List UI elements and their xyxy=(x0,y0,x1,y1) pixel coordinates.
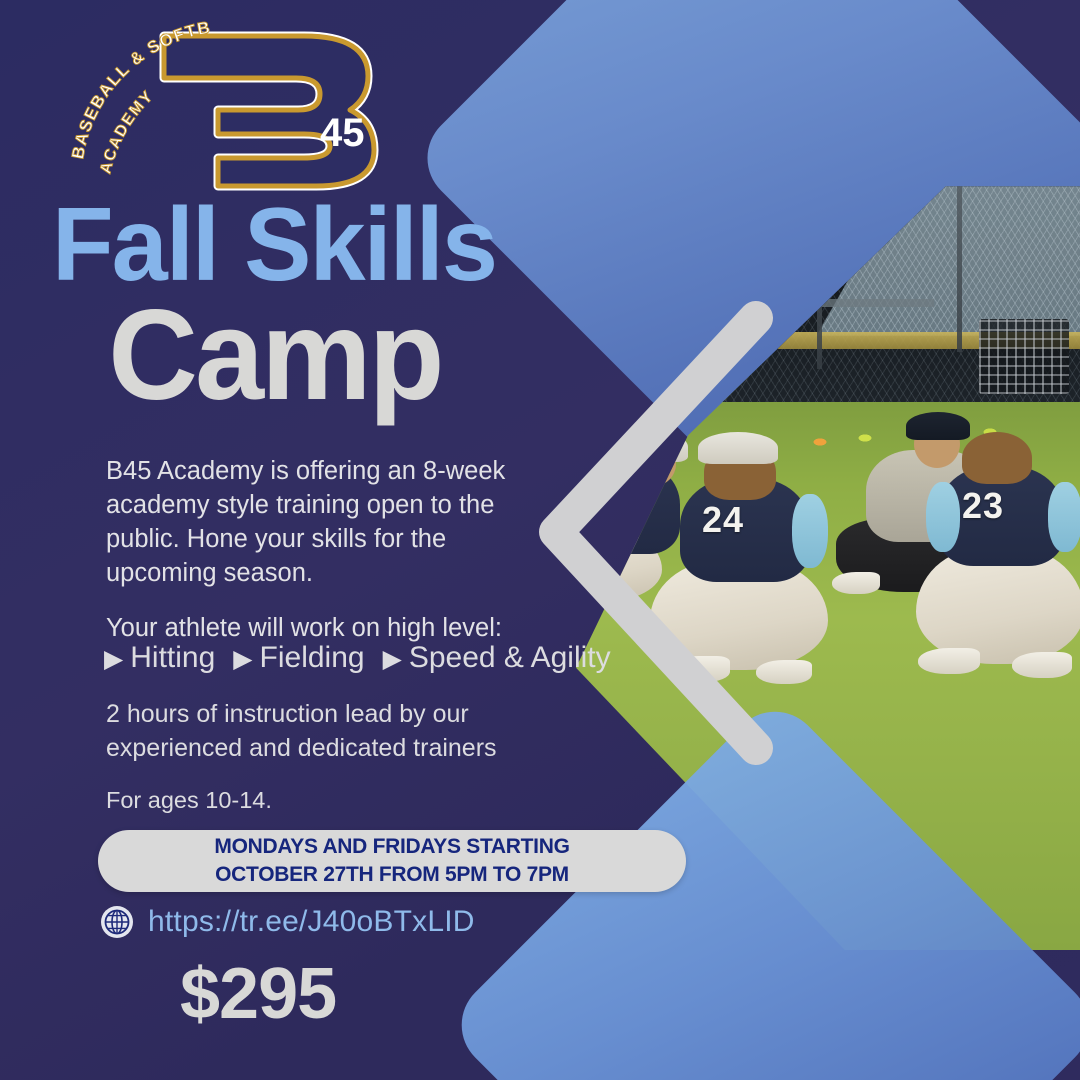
triangle-bullet-icon: ▶ xyxy=(233,647,252,672)
photo-rail-upper xyxy=(744,299,934,306)
photo-pole-mid xyxy=(817,120,822,369)
logo-arc-text-top: BASEBALL & SOFTBALL xyxy=(68,18,213,160)
price-text: $295 xyxy=(180,955,336,1034)
schedule-line-1: MONDAYS AND FRIDAYS STARTING xyxy=(214,833,569,861)
photo-pole-right xyxy=(957,120,962,352)
skill-item-hitting: ▶ Hitting xyxy=(104,641,215,675)
triangle-bullet-icon: ▶ xyxy=(104,647,123,672)
photo-pole-left xyxy=(694,120,699,386)
skill-item-fielding: ▶ Fielding xyxy=(233,641,364,675)
skills-list: ▶ Hitting ▶ Fielding ▶ Speed & Agility xyxy=(104,641,611,675)
photo-equipment-cage xyxy=(979,319,1069,394)
schedule-banner: MONDAYS AND FRIDAYS STARTING OCTOBER 27T… xyxy=(98,830,686,892)
globe-icon xyxy=(100,905,134,939)
flyer-poster: 24 23 xyxy=(0,0,1080,1080)
triangle-bullet-icon: ▶ xyxy=(383,647,402,672)
logo-number: 45 xyxy=(320,111,365,155)
intro-text: B45 Academy is offering an 8-week academ… xyxy=(106,455,526,591)
age-range-text: For ages 10-14. xyxy=(106,787,272,814)
intro-paragraph: B45 Academy is offering an 8-week academ… xyxy=(106,455,526,591)
b45-academy-logo: 45 BASEBALL & SOFTBALL ACADEMY xyxy=(68,18,413,198)
skill-label-speed-agility: Speed & Agility xyxy=(409,641,611,675)
schedule-line-2: OCTOBER 27TH FROM 5PM TO 7PM xyxy=(215,861,569,889)
skill-item-speed-agility: ▶ Speed & Agility xyxy=(383,641,611,675)
registration-url-text[interactable]: https://tr.ee/J40oBTxLID xyxy=(148,905,475,939)
skill-label-fielding: Fielding xyxy=(260,641,365,675)
skill-label-hitting: Hitting xyxy=(130,641,215,675)
page-title: Fall Skills Camp xyxy=(52,196,652,416)
headline-line-2: Camp xyxy=(52,295,634,417)
headline-line-1: Fall Skills xyxy=(52,196,634,295)
instruction-hours-text: 2 hours of instruction lead by our exper… xyxy=(106,697,536,765)
registration-link[interactable]: https://tr.ee/J40oBTxLID xyxy=(100,905,475,939)
